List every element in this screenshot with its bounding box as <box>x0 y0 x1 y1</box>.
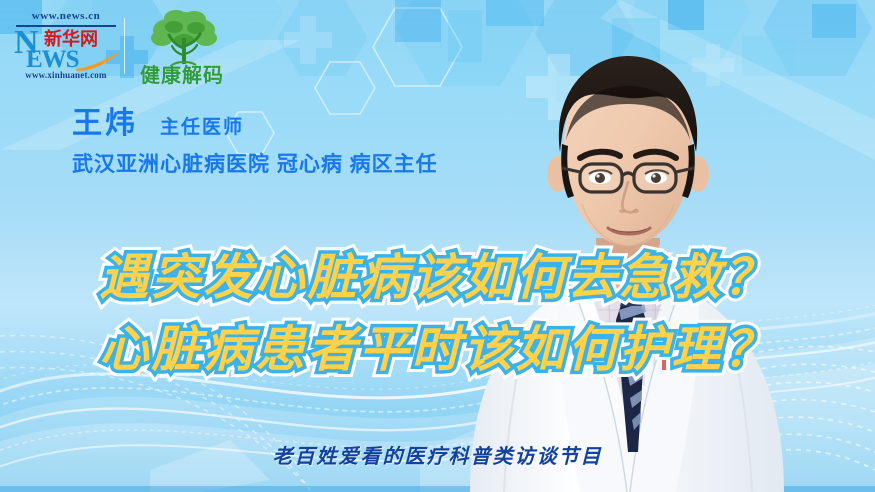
headline-line-1: 遇突发心脏病该如何去急救？ 遇突发心脏病该如何去急救？ 遇突发心脏病该如何去急救… <box>0 243 875 315</box>
doctor-name-row: 王炜 主任医师 <box>72 106 438 145</box>
doctor-title: 主任医师 <box>160 111 244 145</box>
brand-divider <box>124 18 125 74</box>
headline-line-2: 心脏病患者平时该如何护理？ 心脏病患者平时该如何护理？ 心脏病患者平时该如何护理… <box>0 315 875 387</box>
xinhuanet-logo[interactable]: www.news.cn N 新华网 EWS www.xinhuanet.com <box>14 10 118 84</box>
headline-line-2-fill: 心脏病患者平时该如何护理？ <box>0 315 875 385</box>
program-logo[interactable]: 健康解码 <box>128 8 236 92</box>
video-thumbnail-canvas: www.news.cn N 新华网 EWS www.xinhuanet.com <box>0 0 875 492</box>
green-tree-icon <box>142 8 226 70</box>
program-tagline: 老百姓爱看的医疗科普类访谈节目 <box>0 443 875 471</box>
headline-line-1-fill: 遇突发心脏病该如何去急救？ <box>0 243 875 313</box>
doctor-credit-block: 王炜 主任医师 武汉亚洲心脏病医院 冠心病 病区主任 <box>72 106 438 179</box>
xinhua-wordmark: N 新华网 EWS <box>14 28 118 68</box>
xinhua-bottom-url: www.xinhuanet.com <box>14 70 118 80</box>
headline-block: 遇突发心脏病该如何去急救？ 遇突发心脏病该如何去急救？ 遇突发心脏病该如何去急救… <box>0 243 875 387</box>
program-name: 健康解码 <box>128 64 236 88</box>
doctor-affiliation: 武汉亚洲心脏病医院 冠心病 病区主任 <box>72 151 438 179</box>
orange-swoosh-icon <box>74 50 122 72</box>
doctor-name: 王炜 <box>72 106 138 142</box>
xinhua-top-url: www.news.cn <box>16 10 116 23</box>
xinhua-letters-ews: EWS <box>26 48 79 72</box>
